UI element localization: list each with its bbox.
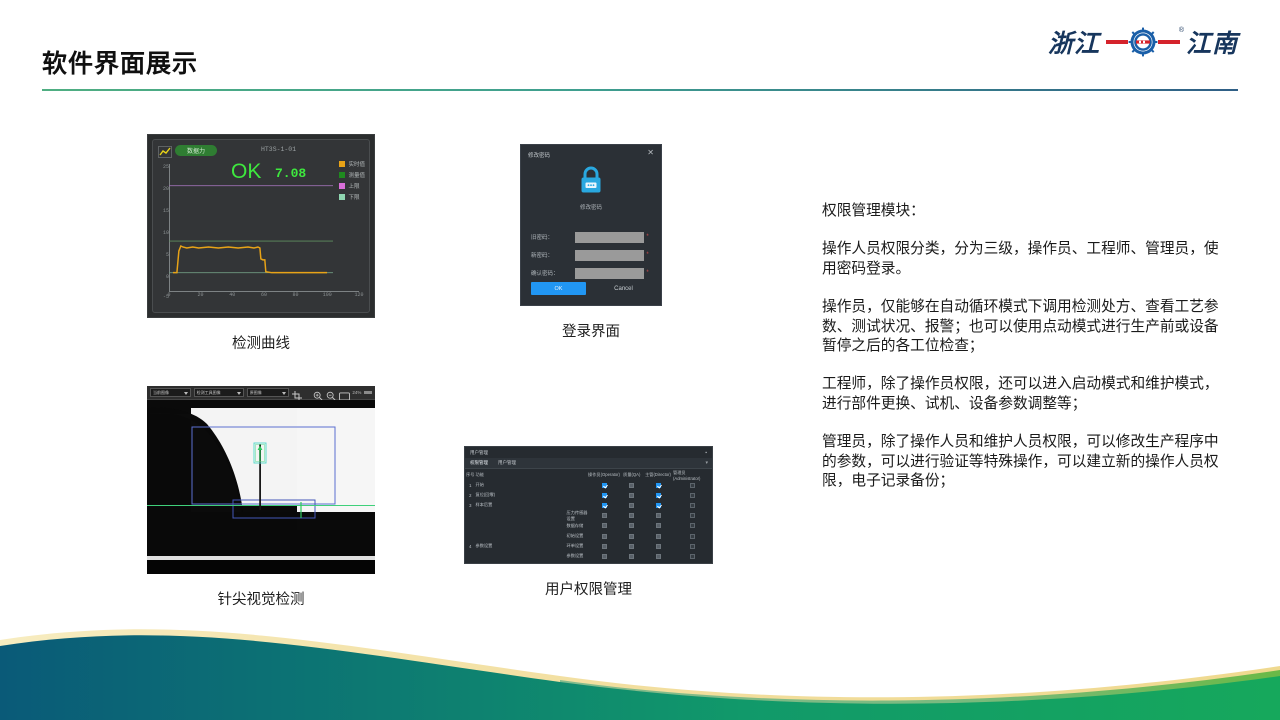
confirm-password-label: 确认密码： [531,269,575,277]
logo-dash-left [1106,40,1128,44]
required-marker: * [644,234,651,240]
checkbox-administrator[interactable] [673,493,712,498]
logo-dash-right [1158,40,1180,44]
checkbox-operator[interactable] [588,513,621,518]
form-row-old-password: 旧密码： * [531,231,651,243]
x-tick: 20 [198,292,204,298]
new-password-label: 新密码： [531,251,575,259]
dialog-buttons: OK Cancel [531,282,651,295]
fit-screen-icon[interactable] [339,388,349,398]
checkbox-qa[interactable] [621,493,644,498]
zoom-in-icon[interactable] [313,388,323,398]
checkbox-qa[interactable] [621,523,644,528]
chevron-down-icon[interactable]: ▾ [705,460,712,466]
paragraph-admin: 管理员，除了操作人员和维护人员权限，可以修改生产程序中的参数，可以进行验证等特殊… [822,433,1222,491]
permission-tabs: 权限管理 用户管理 ▾ [465,458,712,469]
screenshot-vision-inspection[interactable]: 当前图像 检测工具图像 原图像 24% [147,386,375,574]
legend-label: 实时值 [348,160,365,168]
column-index: 序号 [465,472,476,478]
curve-plot-area [169,164,333,290]
image-source-dropdown[interactable]: 当前图像 [150,388,191,397]
tab-user-management[interactable]: 用户管理 [498,460,516,466]
page-title: 软件界面展示 [42,44,198,80]
x-tick: 80 [293,292,299,298]
checkbox-administrator[interactable] [673,503,712,508]
table-row: 数据存储 [465,521,712,531]
dialog-title: 修改密码 [528,151,550,159]
zoom-level-label: 24% [352,390,361,395]
permission-rows: 1 开始 2 复位(回零) [465,480,712,563]
form-row-new-password: 新密码： * [531,249,651,261]
legend-item: 上限 [339,182,365,190]
legend-item: 测量值 [339,171,365,179]
column-administrator: 管理员(Administrator) [673,470,712,481]
original-image-dropdown[interactable]: 原图像 [247,388,290,397]
checkbox-operator[interactable] [588,483,621,488]
table-row: 压力传感器设置 [465,511,712,521]
x-tick: 60 [261,292,267,298]
new-password-input[interactable] [575,250,644,261]
tool-image-dropdown[interactable]: 检测工具图像 [194,388,244,397]
curve-mode-tag[interactable]: 数据力 [175,145,217,156]
table-row: 补偿设置 [465,562,712,565]
checkbox-administrator[interactable] [673,523,712,528]
x-tick: 100 [323,292,332,298]
row-index: 2 [465,493,476,498]
row-subfunction: 环单设置 [521,543,588,549]
legend-label: 下限 [348,193,359,201]
screenshot-detection-curve[interactable]: 数据力 HT3S-1-01 OK 7.08 实时值 测量值 上限 下限 25 2… [147,134,375,318]
required-marker: * [644,252,651,258]
table-row: 3 样本后置 [465,500,712,510]
figure-caption: 针尖视觉检测 [147,588,375,609]
checkbox-operator[interactable] [588,503,621,508]
description-text: 权限管理模块： 操作人员权限分类，分为三级，操作员、工程师、管理员，使用密码登录… [822,202,1222,491]
row-function: 开始 [476,482,521,488]
chart-legend: 实时值 测量值 上限 下限 [339,160,365,201]
figure-caption: 用户权限管理 [464,578,713,599]
column-operator: 操作员(Operator) [588,472,621,478]
row-subfunction: 初始设置 [521,533,588,539]
checkbox-director[interactable] [643,523,673,528]
lock-icon [577,165,605,200]
row-index: 4 [465,544,476,549]
tab-permission-management[interactable]: 权限管理 [470,460,488,466]
x-tick: 0 [167,292,170,298]
checkbox-director[interactable] [643,544,673,549]
legend-item: 实时值 [339,160,365,168]
confirm-password-input[interactable] [575,268,644,279]
checkbox-director[interactable] [643,554,673,559]
dialog-heading: 修改密码 [521,203,661,211]
paragraph-operator: 操作员，仅能够在自动循环模式下调用检测处方、查看工艺参数、测试状况、报警；也可以… [822,298,1222,356]
paragraph-levels: 操作人员权限分类，分为三级，操作员、工程师、管理员，使用密码登录。 [822,240,1222,279]
figure-caption: 检测曲线 [147,332,375,353]
figure-detection-curve: 数据力 HT3S-1-01 OK 7.08 实时值 测量值 上限 下限 25 2… [147,134,375,353]
checkbox-director[interactable] [643,493,673,498]
checkbox-director[interactable] [643,483,673,488]
legend-label: 上限 [348,182,359,190]
logo-text-right: 江南 [1186,24,1238,60]
column-director: 主管(Director) [643,472,673,478]
cancel-button[interactable]: Cancel [596,282,651,295]
checkbox-administrator[interactable] [673,554,712,559]
figure-vision-inspection: 当前图像 检测工具图像 原图像 24% [147,386,375,609]
checkbox-administrator[interactable] [673,483,712,488]
paragraph-engineer: 工程师，除了操作员权限，还可以进入启动模式和维护模式，进行部件更换、试机、设备参… [822,375,1222,414]
column-function: 功能 [476,472,521,478]
screenshot-user-permissions[interactable]: 用户管理 ▪ 权限管理 用户管理 ▾ 序号 功能 操作员(Operator) 质… [464,446,713,564]
y-axis-ticks: 25 20 15 10 5 0 -5 [156,164,169,290]
checkbox-qa[interactable] [621,534,644,539]
curve-panel: 数据力 HT3S-1-01 OK 7.08 实时值 测量值 上限 下限 25 2… [152,139,370,313]
curve-model-label: HT3S-1-01 [261,146,296,153]
close-icon[interactable]: ✕ [647,149,654,157]
table-row: 4 参数设置 环单设置 [465,541,712,551]
row-function: 样本后置 [476,502,521,508]
column-qa: 质量(QA) [621,472,644,478]
crop-icon[interactable] [292,388,302,398]
table-row: 初始设置 [465,531,712,541]
table-header: 序号 功能 操作员(Operator) 质量(QA) 主管(Director) … [465,470,712,480]
paragraph-heading: 权限管理模块： [822,202,1222,221]
checkbox-qa[interactable] [621,554,644,559]
checkbox-qa[interactable] [621,503,644,508]
toolbar-handle[interactable] [364,391,372,394]
window-title: 用户管理 [470,450,488,456]
screenshot-password-dialog[interactable]: 修改密码 ✕ 修改密码 旧密码： * [520,144,662,306]
gear-icon: ® [1106,27,1180,57]
checkbox-qa[interactable] [621,513,644,518]
checkbox-director[interactable] [643,513,673,518]
form-row-confirm-password: 确认密码： * [531,267,651,279]
minimize-icon[interactable]: ▪ [705,450,707,456]
legend-label: 测量值 [348,171,365,179]
logo-text-left: 浙江 [1048,24,1100,60]
required-marker: * [644,270,651,276]
checkbox-administrator[interactable] [673,544,712,549]
checkbox-administrator[interactable] [673,513,712,518]
checkbox-operator[interactable] [588,523,621,528]
ok-button[interactable]: OK [531,282,586,295]
x-axis-ticks: 0 20 40 60 80 100 120 [169,292,359,304]
checkbox-operator[interactable] [588,554,621,559]
trend-chart-icon [158,145,172,157]
row-subfunction: 数据存储 [521,523,588,529]
company-logo: 浙江 [1048,22,1238,62]
old-password-label: 旧密码： [531,233,575,241]
table-row: 参数设置 [465,551,712,561]
registered-mark: ® [1179,27,1184,34]
vision-canvas[interactable] [147,400,375,574]
checkbox-administrator[interactable] [673,534,712,539]
x-tick: 40 [229,292,235,298]
table-row: 2 复位(回零) [465,490,712,500]
vision-toolbar: 当前图像 检测工具图像 原图像 24% [147,386,375,400]
figure-permission-table: 用户管理 ▪ 权限管理 用户管理 ▾ 序号 功能 操作员(Operator) 质… [464,446,713,599]
password-form: 旧密码： * 新密码： * 确认密码： * [531,231,651,285]
row-function: 复位(回零) [476,492,521,498]
checkbox-qa[interactable] [621,483,644,488]
table-row: 1 开始 [465,480,712,490]
figure-caption: 登录界面 [520,320,662,341]
checkbox-director[interactable] [643,534,673,539]
row-subfunction: 参数设置 [521,553,588,559]
x-tick: 120 [354,292,363,298]
checkbox-operator[interactable] [588,544,621,549]
row-index: 3 [465,503,476,508]
row-function: 参数设置 [476,543,521,549]
row-subfunction: 压力传感器设置 [521,510,588,522]
zoom-out-icon[interactable] [326,388,336,398]
checkbox-director[interactable] [643,503,673,508]
legend-item: 下限 [339,193,365,201]
footer-wave-decoration [0,610,1280,720]
old-password-input[interactable] [575,232,644,243]
checkbox-operator[interactable] [588,493,621,498]
checkbox-qa[interactable] [621,544,644,549]
title-divider [42,89,1238,91]
row-index: 1 [465,483,476,488]
figure-login-dialog: 修改密码 ✕ 修改密码 旧密码： * [520,144,662,341]
slide-root: 软件界面展示 浙江 [0,0,1280,720]
checkbox-operator[interactable] [588,534,621,539]
